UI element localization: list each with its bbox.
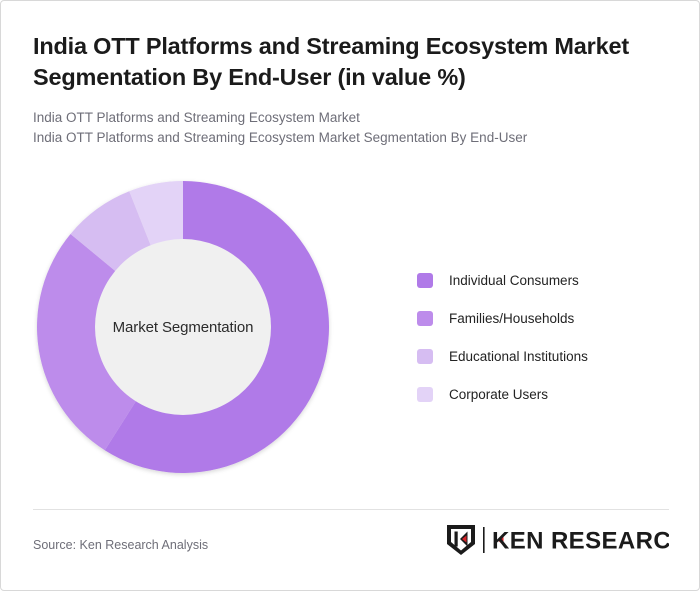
- legend-swatch-icon: [417, 311, 433, 326]
- ken-research-logo: KEN RESEARCH: [445, 522, 669, 558]
- chart-header: India OTT Platforms and Streaming Ecosys…: [33, 31, 673, 149]
- legend-item-label: Individual Consumers: [449, 273, 579, 288]
- donut-svg: [37, 181, 329, 473]
- legend-item[interactable]: Educational Institutions: [417, 337, 667, 375]
- plot-area: Market Segmentation Individual Consumers…: [1, 163, 700, 499]
- ken-research-shield-icon: KEN RESEARCH: [445, 523, 669, 557]
- donut-hole: [95, 239, 271, 415]
- footer-divider: [33, 509, 669, 510]
- legend-swatch-icon: [417, 349, 433, 364]
- legend-item[interactable]: Families/Households: [417, 299, 667, 337]
- donut-chart: Market Segmentation: [37, 181, 329, 473]
- legend-swatch-icon: [417, 273, 433, 288]
- chart-card: India OTT Platforms and Streaming Ecosys…: [0, 0, 700, 591]
- brand-wordmark: KEN RESEARCH: [492, 528, 669, 555]
- chart-legend: Individual ConsumersFamilies/HouseholdsE…: [417, 261, 667, 413]
- source-note: Source: Ken Research Analysis: [33, 538, 208, 552]
- legend-item-label: Families/Households: [449, 311, 574, 326]
- subtitle-line-1: India OTT Platforms and Streaming Ecosys…: [33, 108, 673, 129]
- subtitle-line-2: India OTT Platforms and Streaming Ecosys…: [33, 128, 673, 149]
- legend-item[interactable]: Individual Consumers: [417, 261, 667, 299]
- legend-swatch-icon: [417, 387, 433, 402]
- legend-item-label: Corporate Users: [449, 387, 548, 402]
- legend-item-label: Educational Institutions: [449, 349, 588, 364]
- subtitle-block: India OTT Platforms and Streaming Ecosys…: [33, 108, 673, 150]
- legend-item[interactable]: Corporate Users: [417, 375, 667, 413]
- page-title: India OTT Platforms and Streaming Ecosys…: [33, 31, 673, 94]
